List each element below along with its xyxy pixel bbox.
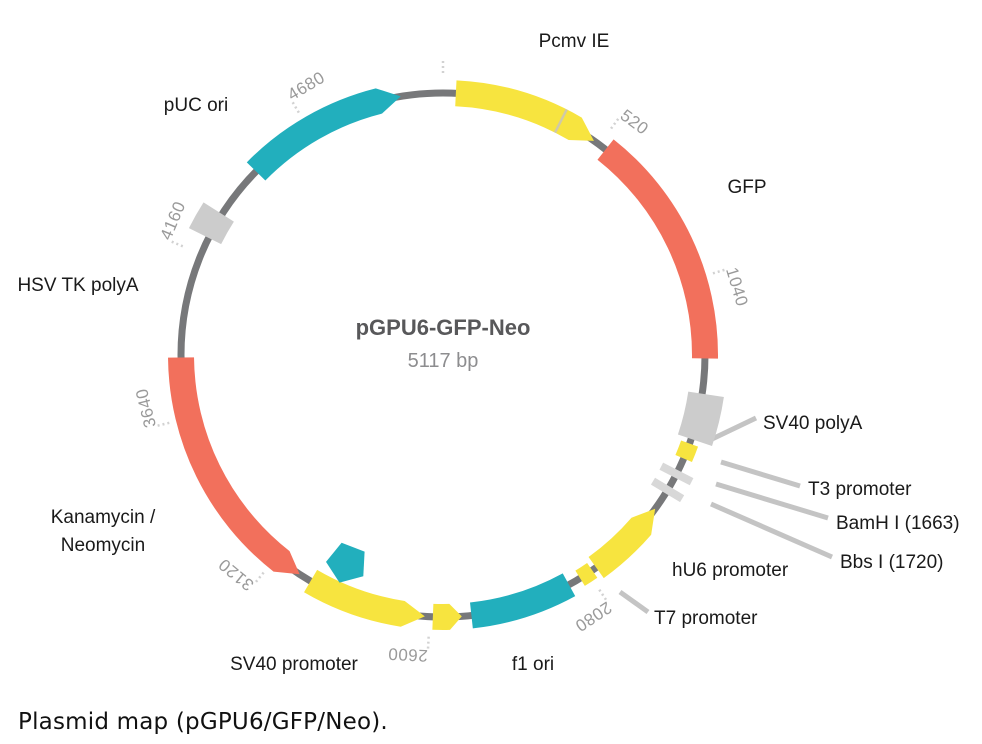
feature-shape [675, 441, 698, 463]
leader-line [721, 462, 800, 486]
feature-t3-promoter[interactable] [675, 441, 698, 463]
pentagon-marker [326, 543, 365, 583]
label-kanamycin-neomycin: Kanamycin / [51, 507, 156, 528]
label-t3-promoter: T3 promoter [808, 479, 912, 500]
tick-label-4680: 4680 [284, 68, 328, 105]
label-pcmv-ie: Pcmv IE [539, 31, 610, 52]
label-hu6-promoter: hU6 promoter [672, 560, 789, 581]
feature-shape [455, 80, 594, 141]
tick-label-520: 520 [617, 106, 652, 139]
feature-hu6-promoter[interactable] [589, 509, 656, 578]
tick-label-4160: 4160 [156, 199, 189, 243]
leader-line [620, 592, 648, 612]
feature-f1-ori[interactable] [470, 573, 575, 628]
label-bbs-i-1720: Bbs I (1720) [840, 552, 944, 573]
pentagon-marker-layer [326, 543, 365, 583]
plasmid-figure: 5201040208026003120364041604680 Pcmv IEG… [0, 0, 982, 700]
feature-labels: Pcmv IEGFPSV40 polyAT3 promoterBamH I (1… [17, 31, 959, 675]
plasmid-center-text: pGPU6-GFP-Neo 5117 bp [356, 315, 531, 372]
label-bamh-i-1663: BamH I (1663) [836, 513, 960, 534]
tick-label-2080: 2080 [571, 598, 615, 636]
feature-puc-ori[interactable] [247, 88, 401, 180]
label-t7-promoter: T7 promoter [654, 608, 758, 629]
tick-label-1040: 1040 [722, 265, 752, 309]
label-hsv-tk-polya: HSV TK polyA [17, 275, 138, 296]
label-f1-ori: f1 ori [512, 654, 554, 675]
feature-sv40-promoter-arrowhead[interactable] [432, 604, 461, 630]
tick-label-3640: 3640 [132, 386, 160, 429]
plasmid-name: pGPU6-GFP-Neo [356, 315, 531, 340]
label-sv40-polya: SV40 polyA [763, 413, 863, 434]
feature-shape [304, 570, 425, 627]
plasmid-map-svg: 5201040208026003120364041604680 Pcmv IEG… [0, 0, 982, 700]
feature-shape [597, 139, 718, 358]
label-sv40-promoter: SV40 promoter [230, 654, 358, 675]
label-kanamycin-neomycin: Neomycin [61, 535, 145, 556]
feature-shape [247, 88, 401, 180]
feature-kanamycin-neomycin[interactable] [168, 357, 300, 574]
feature-shape [432, 604, 461, 630]
tick-label-2600: 2600 [387, 644, 428, 665]
feature-shape [589, 509, 656, 578]
feature-sv40-promoter[interactable] [304, 570, 425, 627]
feature-shape [470, 573, 575, 628]
label-gfp: GFP [727, 177, 766, 198]
plasmid-size: 5117 bp [408, 350, 479, 372]
figure-caption: Plasmid map (pGPU6/GFP/Neo). [18, 700, 964, 744]
feature-gfp[interactable] [597, 139, 718, 358]
feature-shape [168, 357, 300, 574]
tick-label-3120: 3120 [215, 555, 258, 595]
label-puc-ori: pUC ori [164, 95, 228, 116]
feature-pcmv-ie[interactable] [455, 80, 594, 141]
